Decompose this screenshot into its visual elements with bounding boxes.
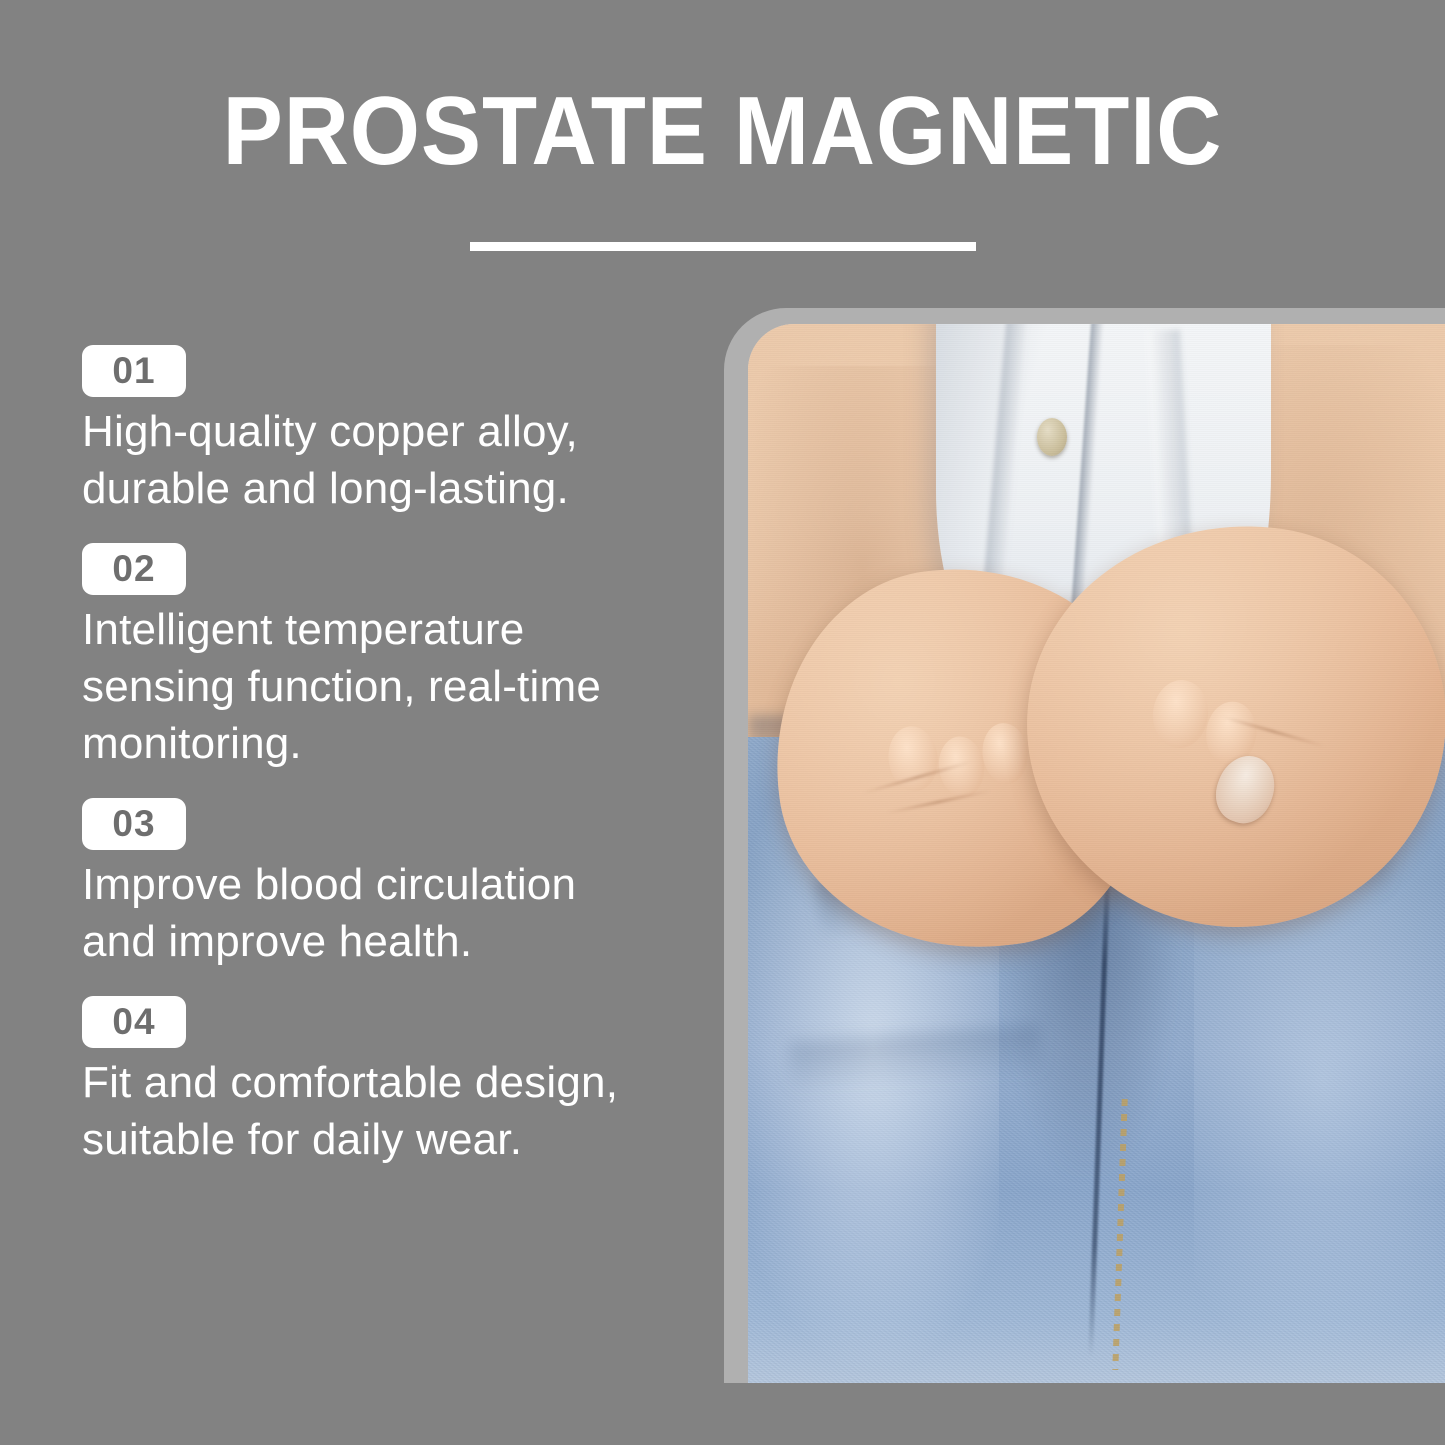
knuckle bbox=[1150, 678, 1211, 752]
feature-description: Fit and comfortable design, suitable for… bbox=[82, 1054, 662, 1168]
feature-item-03: 03 Improve blood circulation and improve… bbox=[82, 798, 682, 970]
feature-number-badge: 02 bbox=[82, 543, 186, 595]
product-infographic-poster: PROSTATE MAGNETIC 01 High-quality copper… bbox=[0, 0, 1445, 1445]
knuckle bbox=[979, 720, 1031, 786]
feature-description: Improve blood circulation and improve he… bbox=[82, 856, 662, 970]
product-photo bbox=[748, 324, 1445, 1383]
feature-description: High-quality copper alloy, durable and l… bbox=[82, 403, 662, 517]
product-photo-frame bbox=[724, 308, 1445, 1383]
feature-item-01: 01 High-quality copper alloy, durable an… bbox=[82, 345, 682, 517]
feature-number-badge: 04 bbox=[82, 996, 186, 1048]
feature-item-02: 02 Intelligent temperature sensing funct… bbox=[82, 543, 682, 772]
shirt-button bbox=[1037, 418, 1067, 456]
title-divider bbox=[470, 242, 976, 251]
poster-header: PROSTATE MAGNETIC bbox=[0, 0, 1445, 300]
photo-scene bbox=[748, 324, 1445, 1383]
feature-number-badge: 03 bbox=[82, 798, 186, 850]
feature-number-badge: 01 bbox=[82, 345, 186, 397]
finger-crease bbox=[887, 789, 991, 814]
feature-description: Intelligent temperature sensing function… bbox=[82, 601, 662, 772]
page-title: PROSTATE MAGNETIC bbox=[51, 78, 1395, 183]
feature-item-04: 04 Fit and comfortable design, suitable … bbox=[82, 996, 682, 1168]
feature-list: 01 High-quality copper alloy, durable an… bbox=[82, 345, 682, 1168]
